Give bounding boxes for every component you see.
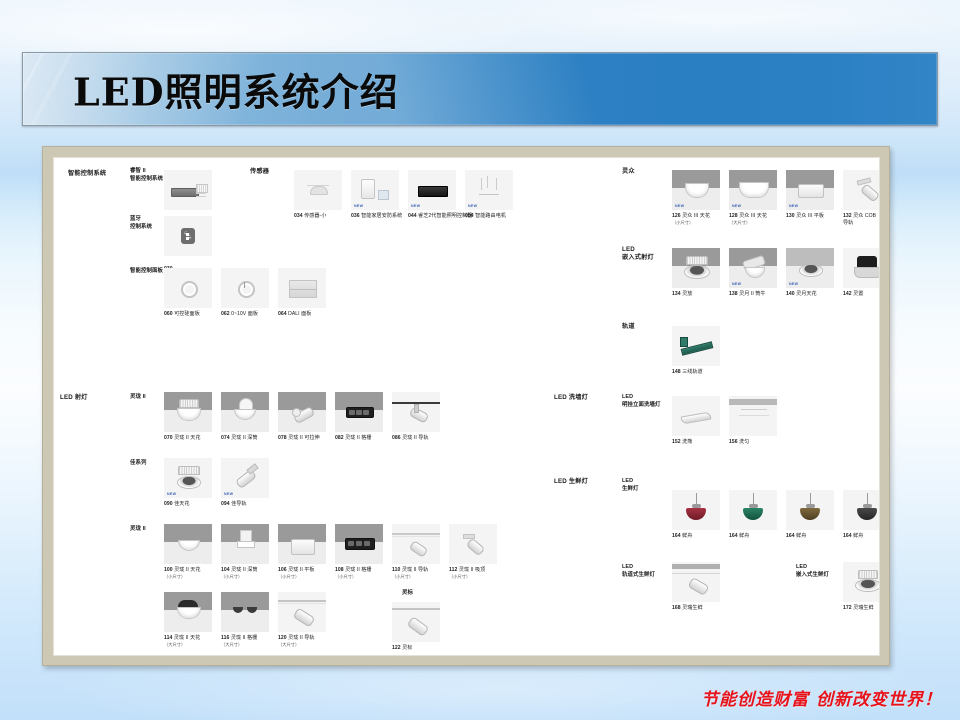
group-title-fresh-track: LED 轨道式生鲜灯	[622, 564, 655, 579]
group-title-fresh-pendant: LED 生鲜灯	[622, 478, 638, 493]
product-caption-034: 034 传感器-小	[294, 213, 326, 220]
category-title-smart-control-system: 智能控制系统	[68, 170, 106, 178]
product-thumb-078[interactable]	[278, 392, 326, 432]
product-caption-164-gold: 164 鲜舟	[786, 533, 806, 540]
product-caption-134: 134 灵放	[672, 291, 692, 298]
page-title: LED照明系统介绍	[73, 62, 399, 117]
product-thumb-152[interactable]	[672, 396, 720, 436]
group-title-wall-washer: LED 明挂立面洗墙灯	[622, 394, 660, 409]
product-caption-036: 036 智能家居安防系统	[351, 213, 402, 220]
product-caption-094: 094 佳导轨	[221, 501, 247, 508]
category-title-led-fresh-light: LED 生鲜灯	[554, 478, 588, 486]
product-thumb-062[interactable]	[221, 268, 269, 308]
product-caption-122: 122 灵标	[392, 645, 412, 652]
product-thumb-086[interactable]	[392, 392, 440, 432]
product-thumb-082[interactable]	[335, 392, 383, 432]
product-caption-104: 104 灵珑 II 深筒（小尺寸）	[221, 567, 258, 581]
group-title-lingbiao: 灵标	[402, 590, 413, 598]
product-thumb-122[interactable]	[392, 602, 440, 642]
product-thumb-044[interactable]: NEW	[408, 170, 456, 210]
product-thumb-030[interactable]: ␀	[164, 216, 212, 256]
product-caption-126: 126 灵众 III 天花（小尺寸）	[672, 213, 710, 227]
product-caption-074: 074 灵珑 II 深筒	[221, 435, 258, 442]
category-title-track: 轨道	[622, 323, 635, 331]
product-caption-106: 106 灵珑 II 平板（小尺寸）	[278, 567, 315, 581]
product-thumb-138[interactable]: NEW	[729, 248, 777, 288]
product-caption-142: 142 灵置	[843, 291, 863, 298]
product-caption-044: 044 睿芝2代智能照明控制器	[408, 213, 472, 220]
product-caption-140: 140 灵月天花	[786, 291, 817, 298]
product-caption-128: 128 灵众 III 天花（大尺寸）	[729, 213, 767, 227]
category-title-led-wall-washer: LED 洗墙灯	[554, 394, 588, 402]
product-caption-138: 138 灵月 II 筒牛	[729, 291, 766, 298]
group-title-jia-series: 佳系列	[130, 460, 146, 468]
product-caption-156: 156 洗匀	[729, 439, 749, 446]
catalog-sheet: 智能控制系统 睿智 II 智能控制系统 024 蓝牙 控制系统 ␀ 030 智能…	[53, 157, 880, 656]
category-title-lingzhong: 灵众	[622, 168, 635, 176]
product-thumb-126[interactable]: NEW	[672, 170, 720, 210]
product-caption-060: 060 可控硅面板	[164, 311, 200, 318]
product-caption-152: 152 洗熊	[672, 439, 692, 446]
product-caption-090: 090 佳天花	[164, 501, 190, 508]
product-thumb-074[interactable]	[221, 392, 269, 432]
product-thumb-164-gold[interactable]	[786, 490, 834, 530]
product-thumb-114[interactable]	[164, 592, 212, 632]
group-title-linglong-i: 灵珑 II	[130, 394, 146, 402]
product-caption-054: 054 智能路由电机	[465, 213, 506, 220]
product-caption-082: 082 灵珑 II 格栅	[335, 435, 372, 442]
group-title-bluetooth-control-system: 蓝牙 控制系统	[130, 216, 152, 231]
product-thumb-070[interactable]	[164, 392, 212, 432]
product-caption-164-green: 164 鲜舟	[729, 533, 749, 540]
product-caption-064: 064 DALI 面板	[278, 311, 311, 318]
product-caption-108: 108 灵珑 II 格栅（小尺寸）	[335, 567, 372, 581]
product-thumb-132[interactable]	[843, 170, 880, 210]
product-caption-164-black: 164 鲜舟	[843, 533, 863, 540]
product-thumb-134[interactable]	[672, 248, 720, 288]
product-caption-110: 110 灵珑 II 导轨（小尺寸）	[392, 567, 428, 581]
group-title-smart-control-panel: 智能控制面板	[130, 268, 163, 276]
product-thumb-148[interactable]	[672, 326, 720, 366]
product-caption-164-red: 164 鲜舟	[672, 533, 692, 540]
product-thumb-064[interactable]	[278, 268, 326, 308]
category-title-sensors: 传感器	[250, 168, 269, 176]
footer-slogan: 节能创造财富 创新改变世界！	[701, 685, 942, 710]
product-thumb-106[interactable]	[278, 524, 326, 564]
product-caption-086: 086 灵珑 II 导轨	[392, 435, 429, 442]
catalog-frame: 智能控制系统 睿智 II 智能控制系统 024 蓝牙 控制系统 ␀ 030 智能…	[42, 146, 890, 666]
product-thumb-116[interactable]	[221, 592, 269, 632]
group-title-linglong-ii: 灵珑 II	[130, 526, 146, 534]
product-thumb-164-green[interactable]	[729, 490, 777, 530]
product-thumb-108[interactable]	[335, 524, 383, 564]
product-thumb-090[interactable]: NEW	[164, 458, 212, 498]
product-thumb-100[interactable]	[164, 524, 212, 564]
product-caption-062: 062 0~10V 面板	[221, 311, 258, 318]
product-caption-168: 168 灵瑞生鲜	[672, 605, 703, 612]
product-thumb-156[interactable]	[729, 396, 777, 436]
category-title-led-recessed-spotlight: LED 嵌入式射灯	[622, 246, 654, 263]
product-caption-070: 070 灵珑 II 天花	[164, 435, 201, 442]
product-thumb-060[interactable]	[164, 268, 212, 308]
product-thumb-034[interactable]	[294, 170, 342, 210]
product-thumb-110[interactable]	[392, 524, 440, 564]
product-caption-114: 114 灵珑 II 天花（大尺寸）	[164, 635, 200, 649]
slide-title-banner: LED照明系统介绍	[22, 52, 938, 126]
product-thumb-172[interactable]	[843, 562, 880, 602]
product-thumb-128[interactable]: NEW	[729, 170, 777, 210]
product-caption-130: 130 灵众 III 平板	[786, 213, 824, 220]
product-thumb-140[interactable]: NEW	[786, 248, 834, 288]
product-caption-112: 112 灵珑 II 吸顶（小尺寸）	[449, 567, 485, 581]
product-thumb-112[interactable]	[449, 524, 497, 564]
product-caption-120: 120 灵珑 II 导轨（大尺寸）	[278, 635, 315, 649]
product-thumb-104[interactable]	[221, 524, 269, 564]
product-thumb-142[interactable]	[843, 248, 880, 288]
group-title-fresh-recessed: LED 嵌入式生鲜灯	[796, 564, 829, 579]
product-caption-078: 078 灵珑 II 可拉伸	[278, 435, 320, 442]
product-thumb-094[interactable]: NEW	[221, 458, 269, 498]
product-caption-132: 132 灵众 COB 导轨	[843, 213, 879, 227]
product-thumb-024[interactable]	[164, 170, 212, 210]
product-caption-100: 100 灵珑 II 天花（小尺寸）	[164, 567, 201, 581]
category-title-led-spotlight: LED 射灯	[60, 394, 88, 402]
group-title-rui-zhi-smart-control: 睿智 II 智能控制系统	[130, 168, 163, 183]
product-thumb-164-black[interactable]	[843, 490, 880, 530]
product-thumb-130[interactable]: NEW	[786, 170, 834, 210]
product-caption-172: 172 灵瑞生鲜	[843, 605, 874, 612]
product-caption-148: 148 三线轨道	[672, 369, 703, 376]
product-thumb-120[interactable]	[278, 592, 326, 632]
product-thumb-036[interactable]: NEW	[351, 170, 399, 210]
product-thumb-054[interactable]: NEW	[465, 170, 513, 210]
product-thumb-164-red[interactable]	[672, 490, 720, 530]
product-caption-116: 116 灵珑 II 格栅（大尺寸）	[221, 635, 257, 649]
product-thumb-168[interactable]	[672, 562, 720, 602]
